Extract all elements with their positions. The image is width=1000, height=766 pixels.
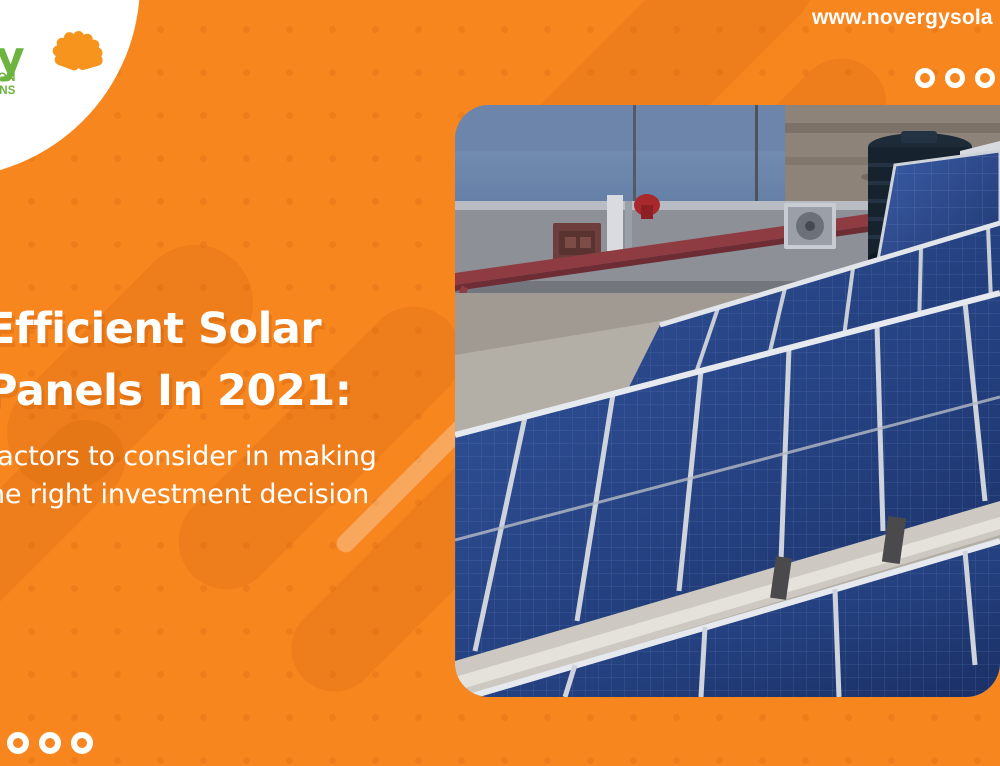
ring-icon	[7, 732, 29, 754]
sun-rays-icon	[28, 8, 120, 66]
company-logo[interactable]: ergy ER GENERATION R GENERATIONS	[0, 6, 136, 102]
ring-icon	[71, 732, 93, 754]
logo-tagline: ER GENERATION R GENERATIONS	[0, 72, 128, 98]
ring-icon	[915, 68, 935, 88]
website-url[interactable]: www.novergysola	[812, 6, 993, 30]
hero-headline: Efficient Solar Panels In 2021:	[0, 298, 456, 422]
logo-tagline-line2: R GENERATIONS	[0, 85, 16, 97]
hero-subheadline: factors to consider in making he right i…	[0, 438, 428, 514]
hero-headline-line2: Panels In 2021:	[0, 360, 456, 422]
ring-icon	[39, 732, 61, 754]
hero-subheadline-line1: factors to consider in making	[0, 441, 377, 472]
solar-panel-photo	[455, 105, 1000, 697]
ring-icon	[945, 68, 965, 88]
solar-blog-banner: ergy ER GENERATION R GENERATIONS www.nov…	[0, 0, 1000, 766]
ring-decoration-bottom-left	[7, 732, 93, 754]
solar-panel-illustration	[455, 105, 1000, 697]
hero-headline-line1: Efficient Solar	[0, 304, 321, 354]
hero-subheadline-line2: he right investment decision	[0, 476, 428, 514]
ring-icon	[975, 68, 995, 88]
logo-tagline-line1: ER GENERATION	[0, 72, 16, 84]
ring-decoration-top-right	[915, 68, 1000, 88]
